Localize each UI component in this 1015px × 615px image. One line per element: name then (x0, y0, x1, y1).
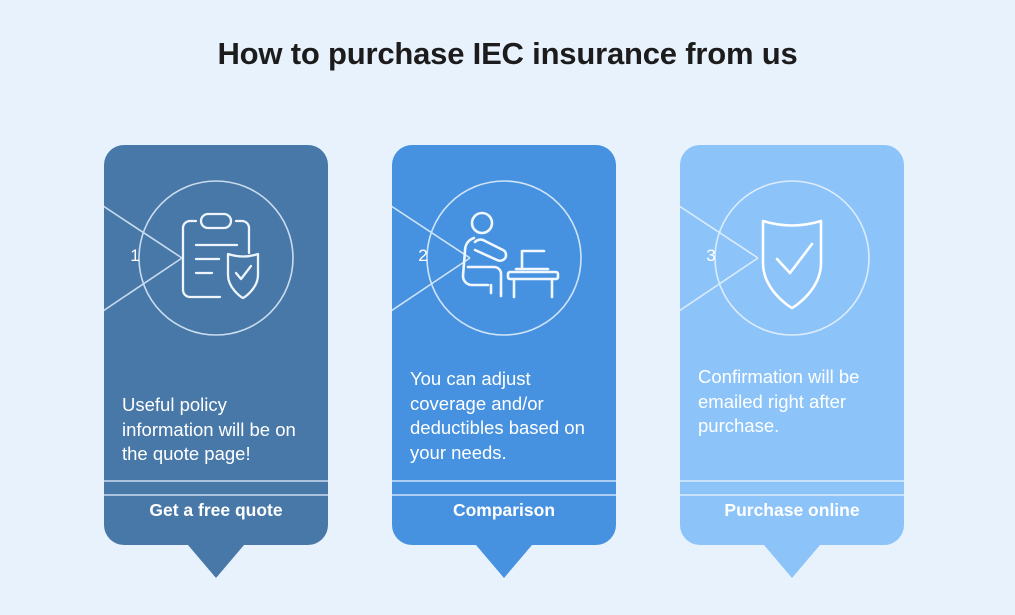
steps-container: 1 Useful policy information will be on t… (104, 145, 904, 585)
step-label-3[interactable]: Purchase online (680, 500, 904, 521)
step-label-1[interactable]: Get a free quote (104, 500, 328, 521)
step-card-1[interactable]: 1 Useful policy information will be on t… (104, 145, 328, 545)
step-number-1: 1 (120, 246, 150, 266)
step-body-2: You can adjust coverage and/or deductibl… (410, 367, 600, 465)
step-card-3[interactable]: 3 Confirmation will be emailed right aft… (680, 145, 904, 545)
step-number-2: 2 (408, 246, 438, 266)
step-label-2[interactable]: Comparison (392, 500, 616, 521)
step-number-3: 3 (696, 246, 726, 266)
step-body-3: Confirmation will be emailed right after… (698, 365, 888, 439)
step-body-1: Useful policy information will be on the… (122, 393, 312, 467)
page-title: How to purchase IEC insurance from us (0, 36, 1015, 72)
step-card-2[interactable]: 2 You can adjust coverage and/or deducti… (392, 145, 616, 545)
